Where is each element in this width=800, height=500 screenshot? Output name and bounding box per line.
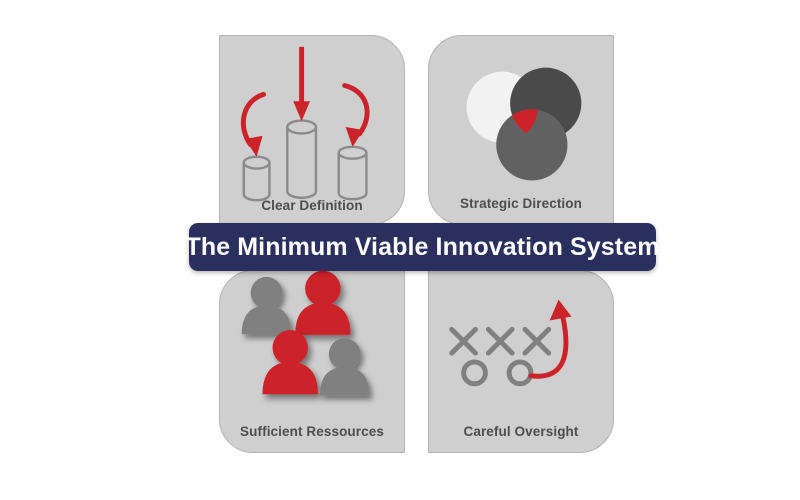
arrow-curved-right	[345, 85, 367, 146]
venn-circle-medium	[496, 109, 567, 180]
person-silhouette-red-front-left	[263, 330, 318, 394]
quadrant-card-careful-oversight[interactable]: Careful Oversight	[428, 270, 614, 453]
venn-circle-light	[467, 72, 538, 143]
quadrant-label-strategic-direction: Strategic Direction	[429, 196, 613, 211]
quadrant-label-clear-definition: Clear Definition	[220, 198, 404, 213]
play-marker-o-2	[509, 362, 531, 384]
person-silhouette-gray-back-left	[242, 277, 291, 334]
arrow-down-center	[293, 47, 310, 121]
cylinders-with-down-arrows-icon	[220, 36, 404, 224]
venn-intersection-highlight	[496, 109, 567, 180]
quadrant-card-sufficient-ressources[interactable]: Sufficient Ressources	[219, 270, 405, 453]
arrow-curved-left	[243, 94, 263, 156]
venn-circle-dark	[510, 68, 581, 139]
center-banner: The Minimum Viable Innovation System	[189, 223, 656, 271]
banner-title: The Minimum Viable Innovation System	[185, 233, 659, 262]
play-route-arrow	[531, 300, 572, 377]
play-marker-x-2	[488, 329, 512, 353]
play-marker-o-1	[464, 362, 486, 384]
person-silhouette-gray-front-right	[320, 338, 369, 395]
play-marker-x-1	[452, 329, 476, 353]
quadrant-card-clear-definition[interactable]: Clear Definition	[219, 35, 405, 225]
quadrant-label-careful-oversight: Careful Oversight	[429, 424, 613, 439]
infographic-canvas: Clear Definition Strategic Direction	[0, 0, 800, 500]
quadrant-card-strategic-direction[interactable]: Strategic Direction	[428, 35, 614, 225]
play-marker-x-3	[525, 329, 549, 353]
person-silhouette-red-back-right	[295, 271, 350, 335]
quadrant-label-sufficient-ressources: Sufficient Ressources	[220, 424, 404, 439]
